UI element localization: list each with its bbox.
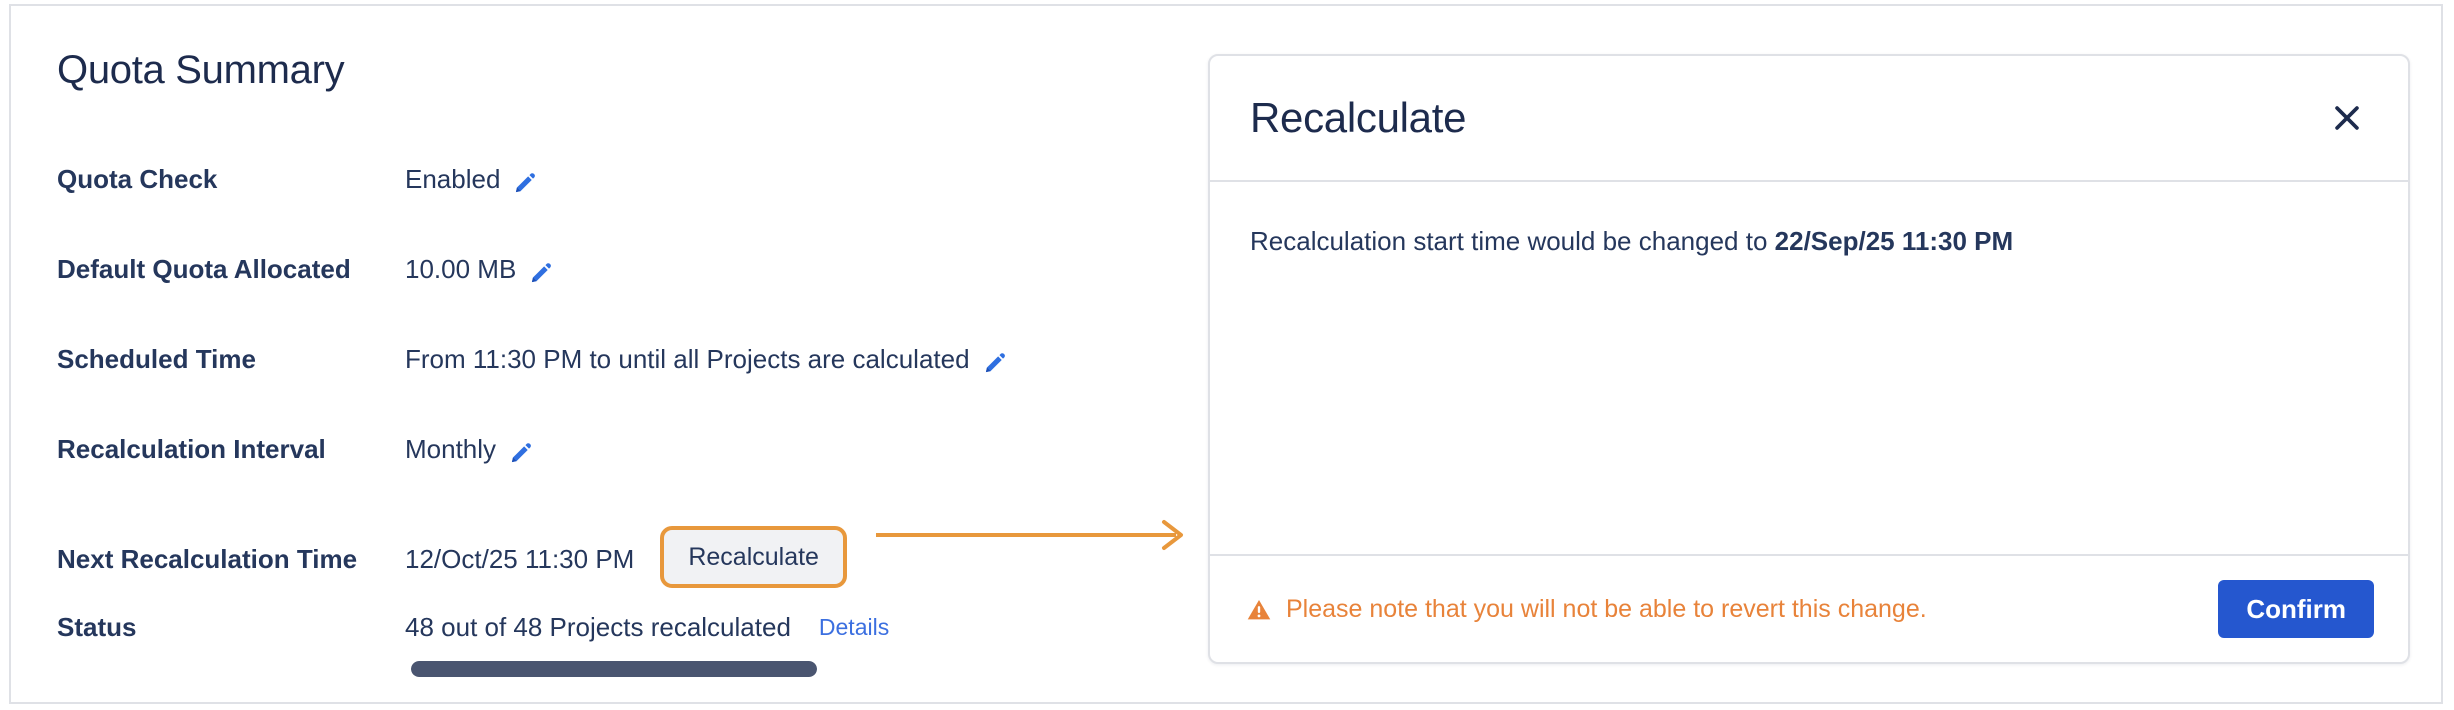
field-label-scheduled-time: Scheduled Time [57, 346, 405, 372]
quota-summary-panel: Quota Summary [57, 48, 1177, 92]
field-label-next-recalculation-time: Next Recalculation Time [57, 546, 405, 572]
field-value-next-recalculation-time: 12/Oct/25 11:30 PM Recalculate [405, 528, 847, 590]
recalculation-interval-value: Monthly [405, 436, 496, 462]
next-recalculation-time-value: 12/Oct/25 11:30 PM [405, 546, 634, 572]
modal-body: Recalculation start time would be change… [1210, 182, 2408, 554]
pencil-icon[interactable] [508, 439, 534, 465]
recalculation-progress-bar [411, 661, 817, 677]
row-scheduled-time: Scheduled Time From 11:30 PM to until al… [57, 346, 1008, 372]
callout-arrow-icon [876, 518, 1196, 552]
modal-body-message: Recalculation start time would be change… [1250, 224, 2368, 259]
close-icon[interactable] [2330, 101, 2364, 135]
confirm-button[interactable]: Confirm [2218, 580, 2374, 638]
warning-triangle-icon [1246, 597, 1272, 623]
pencil-icon[interactable] [512, 169, 538, 195]
row-default-quota-allocated: Default Quota Allocated 10.00 MB [57, 256, 554, 282]
page-frame: Quota Summary Quota Check Enabled Defaul… [9, 4, 2443, 704]
field-label-recalculation-interval: Recalculation Interval [57, 436, 405, 462]
scheduled-time-value: From 11:30 PM to until all Projects are … [405, 346, 970, 372]
row-next-recalculation-time: Next Recalculation Time 12/Oct/25 11:30 … [57, 528, 847, 590]
quota-check-value: Enabled [405, 166, 500, 192]
modal-footer: Please note that you will not be able to… [1210, 554, 2408, 662]
pencil-icon[interactable] [528, 259, 554, 285]
modal-header: Recalculate [1210, 56, 2408, 182]
modal-title: Recalculate [1250, 97, 1466, 139]
field-value-quota-check: Enabled [405, 166, 538, 192]
row-recalculation-interval: Recalculation Interval Monthly [57, 436, 534, 462]
row-quota-check: Quota Check Enabled [57, 166, 538, 192]
field-value-default-quota-allocated: 10.00 MB [405, 256, 554, 282]
status-value: 48 out of 48 Projects recalculated [405, 614, 791, 640]
modal-body-datetime: 22/Sep/25 11:30 PM [1775, 226, 2013, 256]
field-value-scheduled-time: From 11:30 PM to until all Projects are … [405, 346, 1008, 372]
field-label-status: Status [57, 614, 405, 640]
page-title: Quota Summary [57, 48, 1177, 92]
field-label-quota-check: Quota Check [57, 166, 405, 192]
field-value-recalculation-interval: Monthly [405, 436, 534, 462]
pencil-icon[interactable] [982, 349, 1008, 375]
recalculate-modal: Recalculate Recalculation start time wou… [1208, 54, 2410, 664]
modal-body-prefix: Recalculation start time would be change… [1250, 226, 1767, 256]
default-quota-value: 10.00 MB [405, 256, 516, 282]
warning-text: Please note that you will not be able to… [1286, 597, 1927, 622]
recalculate-button[interactable]: Recalculate [660, 526, 847, 588]
row-status: Status 48 out of 48 Projects recalculate… [57, 614, 889, 640]
field-value-status: 48 out of 48 Projects recalculated Detai… [405, 614, 889, 640]
field-label-default-quota-allocated: Default Quota Allocated [57, 256, 405, 282]
warning-group: Please note that you will not be able to… [1246, 596, 1927, 622]
recalculation-progress-fill [411, 661, 817, 677]
details-link[interactable]: Details [819, 616, 889, 639]
